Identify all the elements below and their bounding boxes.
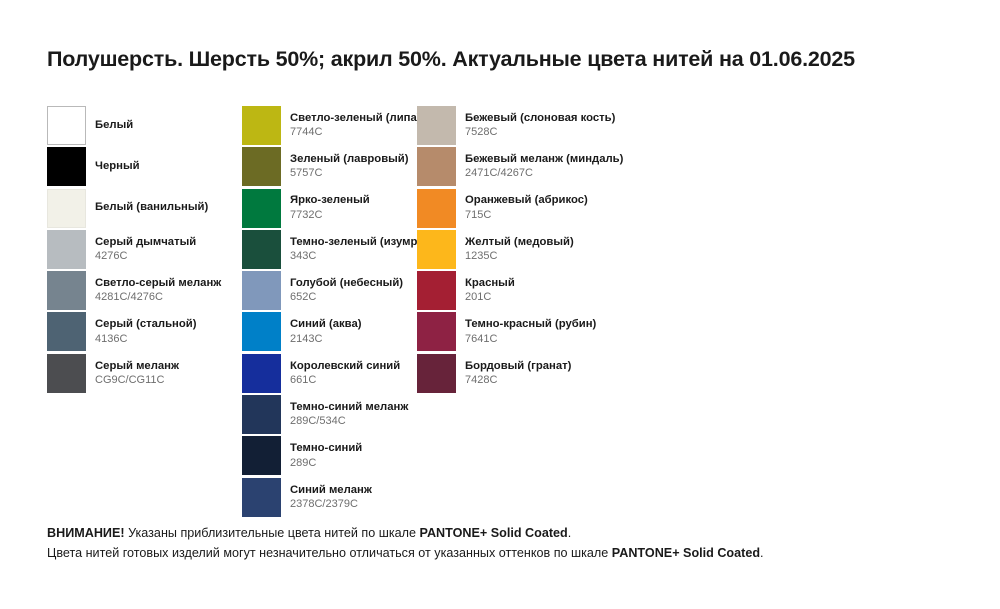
color-swatch xyxy=(47,106,86,145)
swatch-labels: Желтый (медовый)1235C xyxy=(465,230,574,269)
swatch-labels: Ярко-зеленый7732C xyxy=(290,189,370,228)
swatch-row: Ярко-зеленый7732C xyxy=(242,189,417,228)
color-swatch xyxy=(47,312,86,351)
swatch-name: Серый (стальной) xyxy=(95,318,197,331)
footer-line-1-text: Указаны приблизительные цвета нитей по ш… xyxy=(125,526,420,540)
swatch-name: Серый меланж xyxy=(95,360,179,373)
swatch-labels: Синий меланж2378C/2379C xyxy=(290,478,372,517)
swatch-labels: Бежевый (слоновая кость)7528C xyxy=(465,106,615,145)
swatch-labels: Синий (аква)2143C xyxy=(290,312,362,351)
swatch-name: Ярко-зеленый xyxy=(290,194,370,207)
color-swatch xyxy=(417,106,456,145)
swatch-labels: Темно-зеленый (изумруд)343C xyxy=(290,230,434,269)
swatch-name: Светло-серый меланж xyxy=(95,277,221,290)
swatch-row: Светло-серый меланж4281C/4276C xyxy=(47,271,242,310)
swatch-pantone-code: 4276C xyxy=(95,250,196,263)
swatch-row: Серый дымчатый4276C xyxy=(47,230,242,269)
column-gray-neutral: БелыйЧерныйБелый (ванильный)Серый дымчат… xyxy=(47,106,242,395)
footer-brand-1: PANTONE+ Solid Coated xyxy=(419,526,567,540)
swatch-name: Темно-красный (рубин) xyxy=(465,318,596,331)
swatch-labels: Серый дымчатый4276C xyxy=(95,230,196,269)
swatch-labels: Красный201C xyxy=(465,271,515,310)
swatch-pantone-code: 5757C xyxy=(290,167,409,180)
page-title: Полушерсть. Шерсть 50%; акрил 50%. Актуа… xyxy=(47,47,967,72)
swatch-labels: Королевский синий661C xyxy=(290,354,400,393)
swatch-row: Темно-синий меланж289C/534C xyxy=(242,395,417,434)
swatch-name: Синий (аква) xyxy=(290,318,362,331)
color-swatch xyxy=(242,312,281,351)
swatch-row: Серый меланжCG9C/CG11C xyxy=(47,354,242,393)
swatch-row: Темно-красный (рубин)7641C xyxy=(417,312,677,351)
color-swatch xyxy=(242,354,281,393)
swatch-row: Королевский синий661C xyxy=(242,354,417,393)
swatch-name: Королевский синий xyxy=(290,360,400,373)
swatch-labels: Голубой (небесный)652C xyxy=(290,271,403,310)
swatch-name: Желтый (медовый) xyxy=(465,236,574,249)
swatch-row: Синий меланж2378C/2379C xyxy=(242,478,417,517)
color-swatch xyxy=(242,478,281,517)
swatch-row: Темно-синий289C xyxy=(242,436,417,475)
swatch-row: Темно-зеленый (изумруд)343C xyxy=(242,230,417,269)
color-swatch xyxy=(242,189,281,228)
swatch-pantone-code: 4281C/4276C xyxy=(95,291,221,304)
swatch-labels: Светло-зеленый (липа)7744C xyxy=(290,106,421,145)
swatch-name: Голубой (небесный) xyxy=(290,277,403,290)
swatch-labels: Темно-синий289C xyxy=(290,436,362,475)
swatch-pantone-code: 7732C xyxy=(290,209,370,222)
swatch-labels: Серый (стальной)4136C xyxy=(95,312,197,351)
swatch-row: Желтый (медовый)1235C xyxy=(417,230,677,269)
color-swatch xyxy=(242,271,281,310)
swatch-name: Красный xyxy=(465,277,515,290)
color-swatch xyxy=(417,312,456,351)
swatch-name: Темно-синий xyxy=(290,442,362,455)
footer-line-2-text: Цвета нитей готовых изделий могут незнач… xyxy=(47,546,612,560)
color-swatch xyxy=(242,395,281,434)
swatch-pantone-code: 289C/534C xyxy=(290,415,408,428)
footer-attention-label: ВНИМАНИЕ! xyxy=(47,526,125,540)
swatch-labels: Бежевый меланж (миндаль)2471C/4267C xyxy=(465,147,623,186)
swatch-labels: Серый меланжCG9C/CG11C xyxy=(95,354,179,393)
swatch-labels: Зеленый (лавровый)5757C xyxy=(290,147,409,186)
swatch-labels: Белый xyxy=(95,106,133,145)
swatch-pantone-code: 2471C/4267C xyxy=(465,167,623,180)
swatch-labels: Темно-синий меланж289C/534C xyxy=(290,395,408,434)
swatch-labels: Белый (ванильный) xyxy=(95,189,208,228)
swatch-row: Голубой (небесный)652C xyxy=(242,271,417,310)
swatch-name: Белый xyxy=(95,119,133,132)
swatch-pantone-code: 1235C xyxy=(465,250,574,263)
color-swatch xyxy=(47,230,86,269)
swatch-name: Бежевый (слоновая кость) xyxy=(465,112,615,125)
color-swatch xyxy=(47,354,86,393)
footer-line-2-period: . xyxy=(760,546,764,560)
swatch-row: Черный xyxy=(47,147,242,186)
swatch-row: Бежевый меланж (миндаль)2471C/4267C xyxy=(417,147,677,186)
swatch-pantone-code: 343C xyxy=(290,250,434,263)
swatch-pantone-code: 2143C xyxy=(290,333,362,346)
swatch-pantone-code: 7528C xyxy=(465,126,615,139)
footer-note: ВНИМАНИЕ! Указаны приблизительные цвета … xyxy=(47,523,977,564)
swatch-pantone-code: 661C xyxy=(290,374,400,387)
swatch-name: Черный xyxy=(95,160,140,173)
swatch-pantone-code: 715C xyxy=(465,209,588,222)
swatch-name: Светло-зеленый (липа) xyxy=(290,112,421,125)
color-swatch xyxy=(417,354,456,393)
swatch-row: Бежевый (слоновая кость)7528C xyxy=(417,106,677,145)
color-swatch xyxy=(242,436,281,475)
swatch-labels: Черный xyxy=(95,147,140,186)
swatch-row: Светло-зеленый (липа)7744C xyxy=(242,106,417,145)
swatch-name: Оранжевый (абрикос) xyxy=(465,194,588,207)
swatch-pantone-code: 7641C xyxy=(465,333,596,346)
swatch-labels: Оранжевый (абрикос)715C xyxy=(465,189,588,228)
color-swatch xyxy=(242,106,281,145)
swatch-labels: Бордовый (гранат)7428C xyxy=(465,354,571,393)
color-swatch xyxy=(417,230,456,269)
footer-brand-2: PANTONE+ Solid Coated xyxy=(612,546,760,560)
color-swatch xyxy=(47,147,86,186)
swatch-name: Темно-зеленый (изумруд) xyxy=(290,236,434,249)
swatch-pantone-code: 652C xyxy=(290,291,403,304)
swatch-pantone-code: 2378C/2379C xyxy=(290,498,372,511)
swatch-pantone-code: 7428C xyxy=(465,374,571,387)
swatch-name: Белый (ванильный) xyxy=(95,201,208,214)
swatch-row: Красный201C xyxy=(417,271,677,310)
swatch-name: Зеленый (лавровый) xyxy=(290,153,409,166)
swatch-pantone-code: 7744C xyxy=(290,126,421,139)
swatch-pantone-code: 201C xyxy=(465,291,515,304)
swatch-pantone-code: CG9C/CG11C xyxy=(95,374,179,387)
color-swatch xyxy=(242,147,281,186)
footer-line-2: Цвета нитей готовых изделий могут незнач… xyxy=(47,543,977,563)
swatch-row: Белый (ванильный) xyxy=(47,189,242,228)
swatch-name: Темно-синий меланж xyxy=(290,401,408,414)
column-beige-warm-red: Бежевый (слоновая кость)7528CБежевый мел… xyxy=(417,106,677,395)
footer-line-1: ВНИМАНИЕ! Указаны приблизительные цвета … xyxy=(47,523,977,543)
color-swatch xyxy=(417,189,456,228)
swatch-labels: Светло-серый меланж4281C/4276C xyxy=(95,271,221,310)
swatch-name: Серый дымчатый xyxy=(95,236,196,249)
swatch-row: Бордовый (гранат)7428C xyxy=(417,354,677,393)
color-swatch xyxy=(47,189,86,228)
swatch-row: Зеленый (лавровый)5757C xyxy=(242,147,417,186)
swatch-name: Синий меланж xyxy=(290,484,372,497)
swatch-labels: Темно-красный (рубин)7641C xyxy=(465,312,596,351)
swatch-row: Белый xyxy=(47,106,242,145)
color-swatch xyxy=(417,271,456,310)
swatch-row: Серый (стальной)4136C xyxy=(47,312,242,351)
swatch-pantone-code: 4136C xyxy=(95,333,197,346)
swatch-name: Бордовый (гранат) xyxy=(465,360,571,373)
swatch-pantone-code: 289C xyxy=(290,457,362,470)
column-green-blue: Светло-зеленый (липа)7744CЗеленый (лавро… xyxy=(242,106,417,519)
swatch-row: Синий (аква)2143C xyxy=(242,312,417,351)
swatch-name: Бежевый меланж (миндаль) xyxy=(465,153,623,166)
color-chart-page: Полушерсть. Шерсть 50%; акрил 50%. Актуа… xyxy=(0,0,1000,609)
footer-line-1-period: . xyxy=(568,526,572,540)
color-swatch xyxy=(417,147,456,186)
swatch-row: Оранжевый (абрикос)715C xyxy=(417,189,677,228)
color-swatch xyxy=(242,230,281,269)
color-swatch xyxy=(47,271,86,310)
